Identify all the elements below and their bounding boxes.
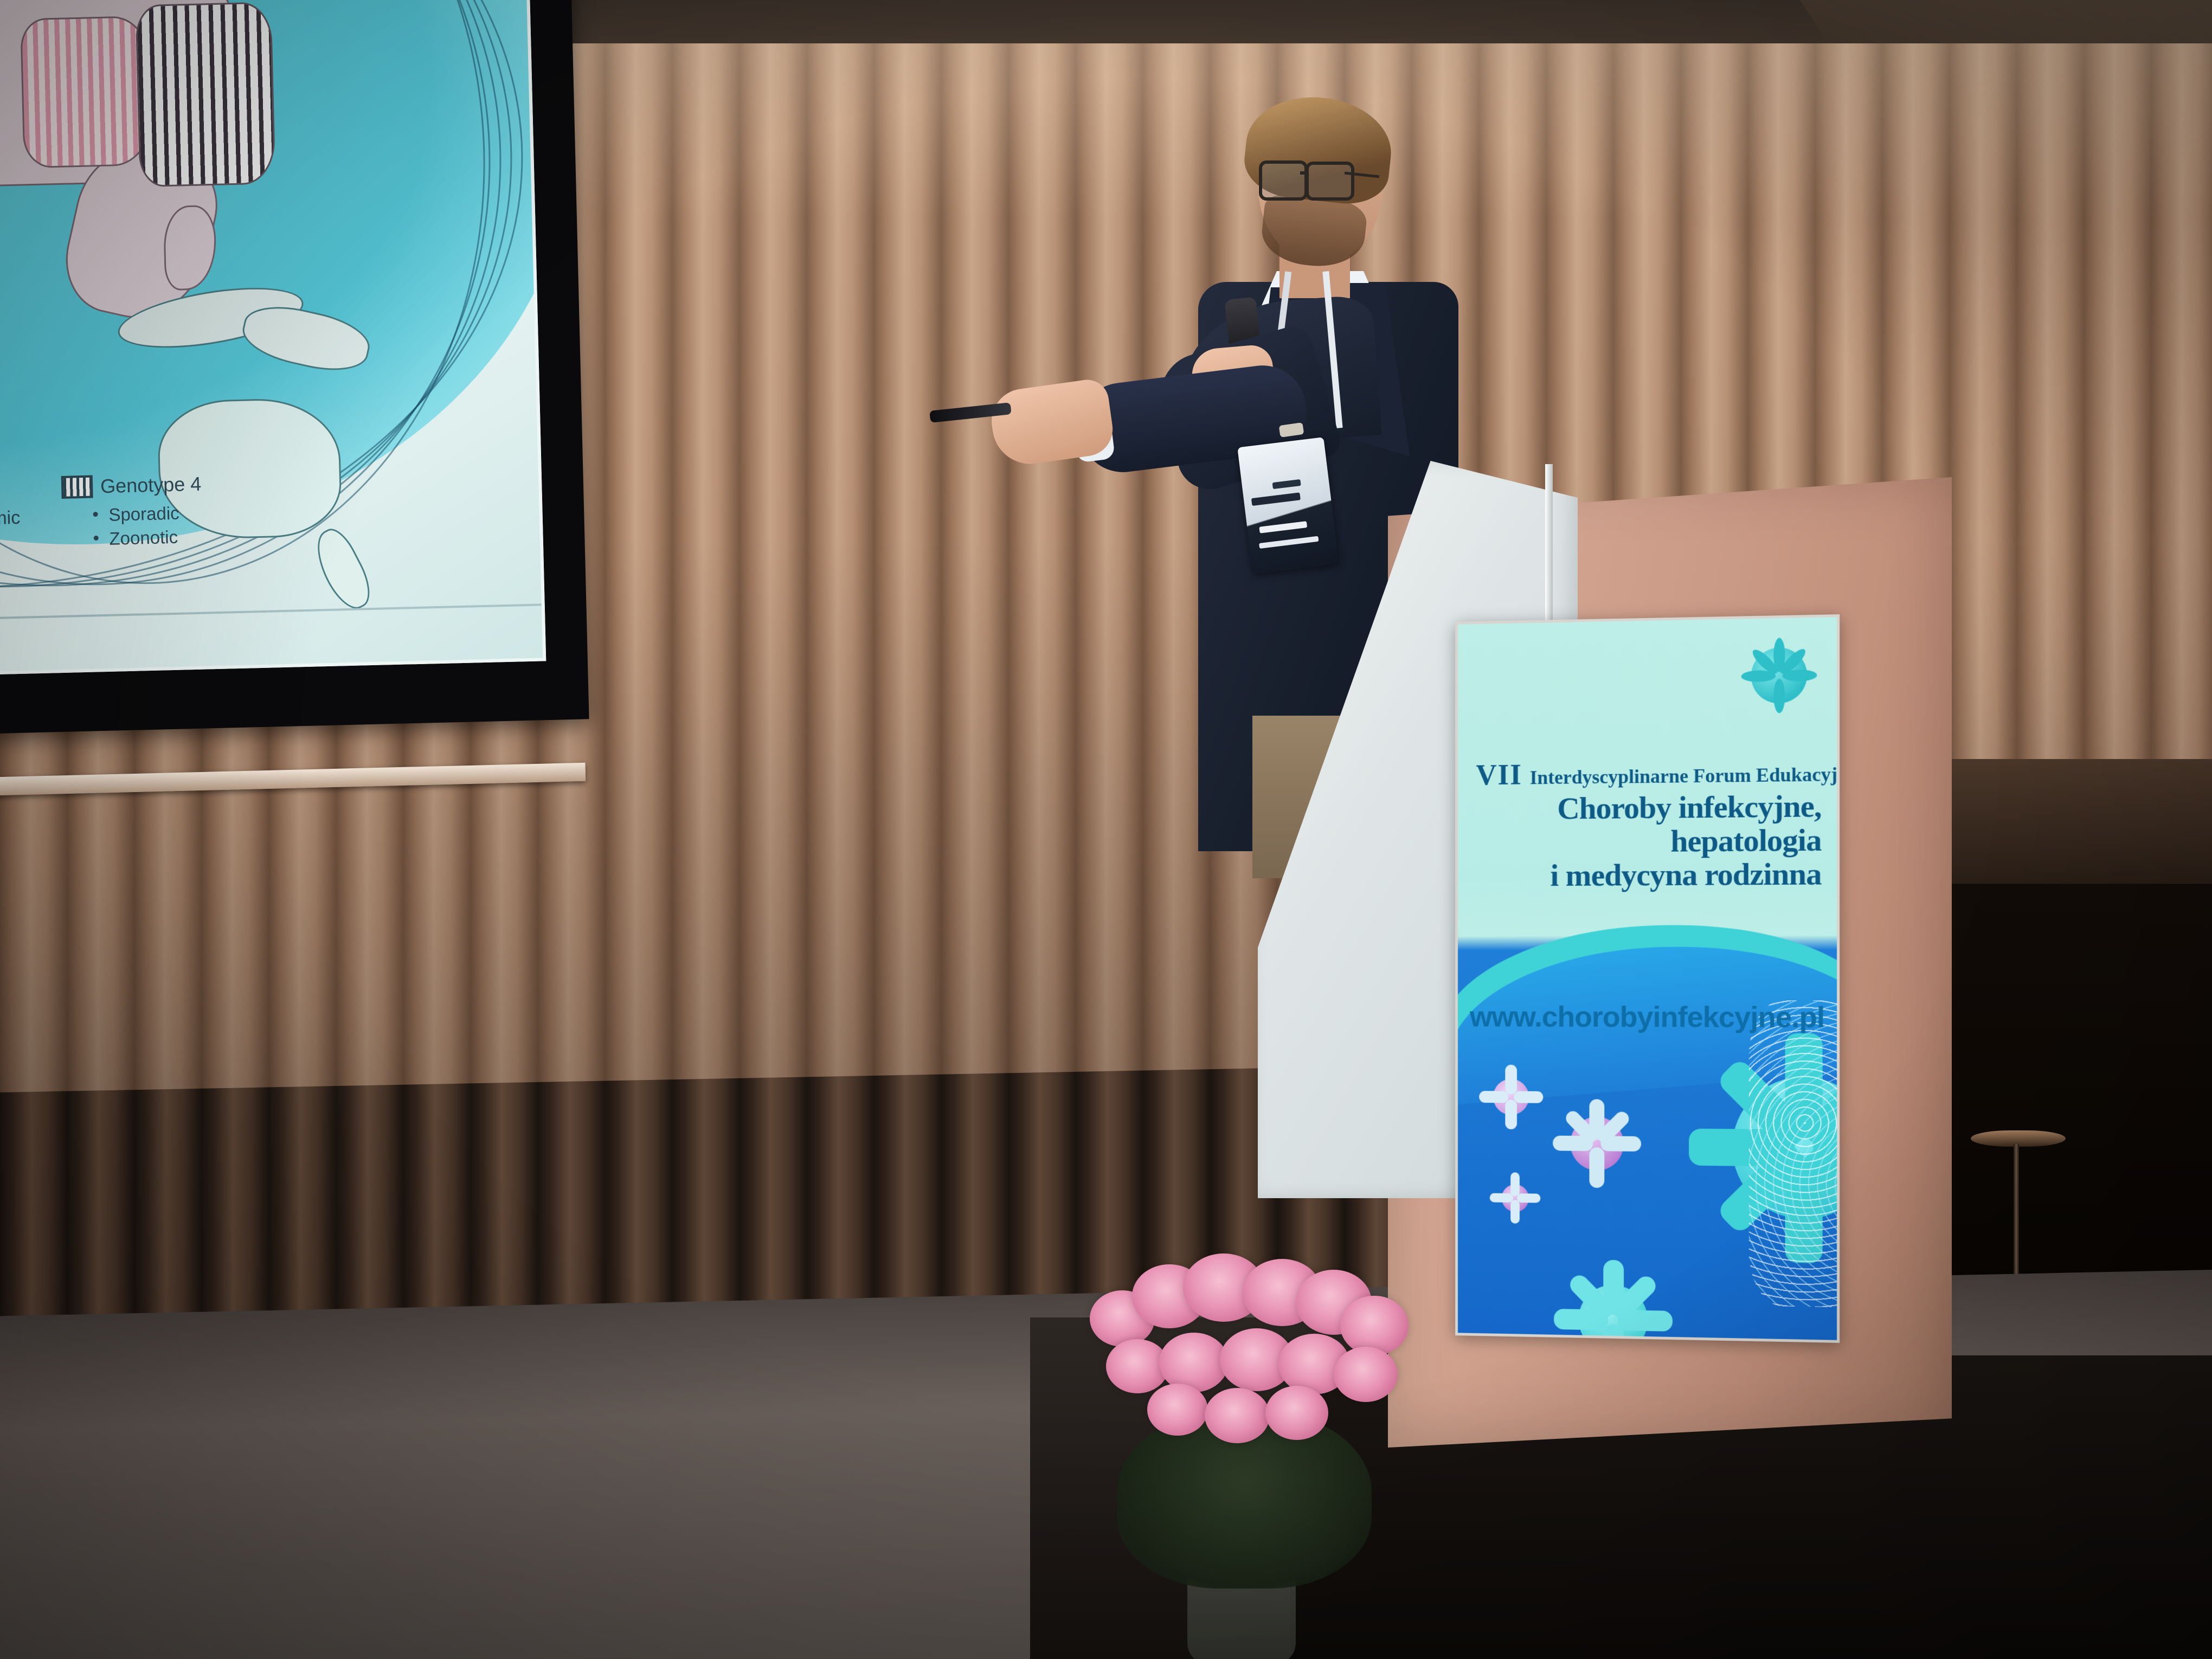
eyeglasses-bridge: [1300, 171, 1309, 175]
virus-mesh-icon: [1749, 1000, 1840, 1309]
virus-icon-small-1: [1479, 1065, 1543, 1130]
legend-column-left: 3 demic: [0, 481, 21, 532]
slide-canvas: 3 demic Genotype 4 Sporadic Zoonotic: [0, 0, 543, 671]
legend-genotype-4-row: Genotype 4: [61, 471, 202, 501]
flower-bloom: [1340, 1296, 1409, 1355]
genotype-region-hatched-pink: [20, 16, 152, 169]
banner-edition-number: VII: [1476, 758, 1522, 791]
legend-genotype-3-label: 3: [0, 481, 20, 507]
flower-bloom: [1265, 1386, 1328, 1440]
banner-forum-line: VIIInterdyscyplinarne Forum Edukacyjne: [1476, 754, 1821, 792]
genotype-region-hatched-white: [135, 2, 275, 187]
flower-bloom: [1205, 1388, 1270, 1443]
banner-title-line-2: i medycyna rodzinna: [1476, 857, 1821, 893]
flower-bloom: [1159, 1333, 1229, 1392]
eyeglasses-lens-right: [1306, 162, 1354, 201]
eyeglasses-icon: [1259, 160, 1308, 201]
alcove-header: [1935, 759, 2212, 900]
banner-text-block: VIIInterdyscyplinarne Forum Edukacyjne C…: [1458, 754, 1837, 893]
banner-forum-label: Interdyscyplinarne Forum Edukacyjne: [1530, 763, 1840, 789]
banner-website-url: www.chorobyinfekcyjne.pl: [1458, 1000, 1837, 1034]
projection-screen: 3 demic Genotype 4 Sporadic Zoonotic: [0, 0, 546, 674]
flower-bloom: [1147, 1384, 1208, 1436]
virus-icon-header: [1738, 634, 1821, 717]
virus-icon-small-2: [1490, 1172, 1541, 1224]
legend-bullet-list: Sporadic Zoonotic: [92, 500, 203, 551]
legend-bullet-sporadic: Sporadic: [92, 500, 202, 527]
lectern-banner: VIIInterdyscyplinarne Forum Edukacyjne C…: [1455, 614, 1840, 1343]
legend-endemic-label: demic: [0, 506, 21, 532]
virus-icon-mid: [1551, 1097, 1643, 1190]
speaker-beard: [1259, 192, 1368, 271]
flower-bloom: [1334, 1347, 1398, 1402]
slide-divider: [0, 603, 542, 619]
banner-title-line-1: Choroby infekcyjne, hepatologia: [1476, 789, 1821, 859]
virus-icon-bottom: [1554, 1259, 1673, 1342]
legend-bullet-zoonotic: Zoonotic: [93, 525, 203, 551]
legend-genotype-4-label: Genotype 4: [100, 471, 202, 500]
landmass-new-zealand: [306, 523, 379, 616]
vertical-hatch-swatch-icon: [61, 475, 93, 499]
flower-bouquet: [1041, 1225, 1453, 1659]
legend-column-right: Genotype 4 Sporadic Zoonotic: [61, 471, 203, 552]
conference-stage-photo: 3 demic Genotype 4 Sporadic Zoonotic: [0, 0, 2212, 1659]
